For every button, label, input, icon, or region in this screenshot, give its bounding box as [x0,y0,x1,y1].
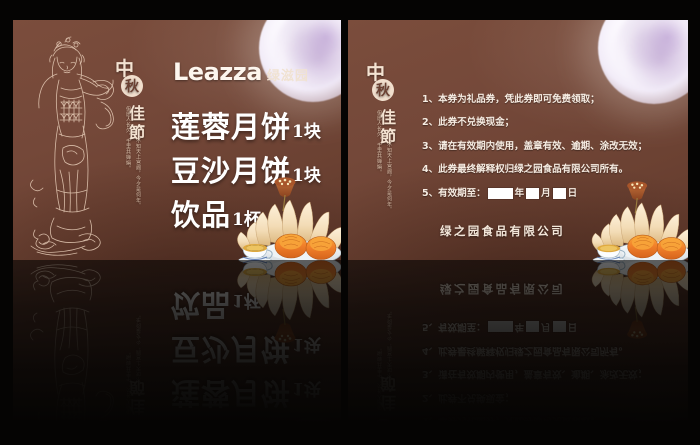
product-list: 莲蓉月饼 1块 豆沙月饼 1块 饮品 1杯 [171,104,321,236]
product-list: 莲蓉月饼 1块 豆沙月饼 1块 饮品 1杯 [171,284,321,416]
terms-item-number: 3、 [422,368,438,379]
product-name: 豆沙月饼 [171,148,291,190]
voucher-stage: 中 秋 佳 節 但愿人长久，千里共婵娟。 不知天上宫阙，今夕是何年。 Leazz… [0,0,700,445]
terms-item: 3、 请在有效期内使用，盖章有效、逾期、涂改无效； [422,141,674,152]
expiry-year-field[interactable] [488,188,513,199]
terms-item-number: 1、 [422,415,438,426]
festival-seal-qiu: 秋 [372,419,394,441]
company-name: 绿之园食品有限公司 [440,281,565,297]
festival-seal-qiu: 秋 [121,423,143,445]
expiry-label: 有效期至： [438,188,486,199]
festival-seal-qiu: 秋 [121,75,143,97]
expiry-day-field[interactable] [553,188,566,199]
festival-poem-line-2: 不知天上宫阙，今夕是何年。 [368,142,392,220]
product-qty: 1杯 [232,290,261,315]
festival-poem-line-2: 不知天上宫阙，今夕是何年。 [368,300,392,378]
terms-item-text: 此券不兑换现金； [438,117,514,128]
terms-item-text: 本券为礼品券，凭此券即可免费领取； [438,415,600,426]
terms-item-number: 4、 [422,164,438,175]
expiry-month-field[interactable] [526,321,539,332]
expiry-year-unit: 年 [515,188,525,199]
voucher-reflection: 中 秋 佳 節 但愿人长久，千里共婵娟。 不知天上宫阙，今夕是何年。 Leazz… [0,260,700,445]
expiry-year-unit: 年 [515,321,525,332]
product-item: 豆沙月饼 1块 [171,148,321,190]
expiry-number: 5、 [422,321,438,332]
product-name: 饮品 [171,286,231,328]
product-name: 饮品 [171,192,231,234]
reflection-mirror: 中 秋 佳 節 但愿人长久，千里共婵娟。 不知天上宫阙，今夕是何年。 Leazz… [0,260,700,445]
terms-item-number: 1、 [422,94,438,105]
voucher-card-back[interactable]: 中 秋 佳 節 但愿人长久，千里共婵娟。 不知天上宫阙，今夕是何年。 1、 本券… [348,260,688,445]
terms-list: 1、 本券为礼品券，凭此券即可免费领取； 2、 此券不兑换现金； 3、 请在有效… [422,94,674,211]
expiry-row: 5、 有效期至： 年 月 日 [422,188,674,199]
product-name: 豆沙月饼 [171,330,291,372]
expiry-day-unit: 日 [568,321,578,332]
terms-item: 2、 此券不兑换现金； [422,117,674,128]
change-goddess-illustration [23,264,119,445]
voucher-card-front[interactable]: 中 秋 佳 節 但愿人长久，千里共婵娟。 不知天上宫阙，今夕是何年。 Leazz… [13,20,341,260]
terms-item-number: 2、 [422,117,438,128]
expiry-day-field[interactable] [553,321,566,332]
terms-item: 1、 本券为礼品券，凭此券即可免费领取； [422,94,674,105]
voucher-card-front[interactable]: 中 秋 佳 節 但愿人长久，千里共婵娟。 不知天上宫阙，今夕是何年。 Leazz… [13,260,341,445]
terms-item-number: 2、 [422,391,438,402]
product-qty: 1块 [292,161,321,186]
product-item: 饮品 1杯 [171,192,321,234]
terms-item: 4、 此券最终解释权归绿之园食品有限公司所有。 [422,164,674,175]
festival-seal-qiu: 秋 [372,79,394,101]
product-item: 莲蓉月饼 1块 [171,104,321,146]
brand-logo: Leazza 绿滋园 [173,434,309,445]
product-item: 莲蓉月饼 1块 [171,374,321,416]
voucher-card-back[interactable]: 中 秋 佳 節 但愿人长久，千里共婵娟。 不知天上宫阙，今夕是何年。 1、 本券… [348,20,688,260]
terms-item-text: 请在有效期内使用，盖章有效、逾期、涂改无效； [438,141,647,152]
brand-chinese-name: 绿滋园 [267,65,309,86]
product-qty: 1杯 [232,205,261,230]
expiry-label: 有效期至： [438,321,486,332]
terms-item: 4、 此券最终解释权归绿之园食品有限公司所有。 [422,344,674,355]
product-name: 莲蓉月饼 [171,104,291,146]
expiry-month-unit: 月 [541,321,551,332]
terms-item: 1、 本券为礼品券，凭此券即可免费领取； [422,415,674,426]
company-name: 绿之园食品有限公司 [440,223,565,239]
moon-icon [598,20,688,104]
change-goddess-illustration [23,30,119,256]
product-qty: 1块 [292,334,321,359]
expiry-month-field[interactable] [526,188,539,199]
expiry-year-field[interactable] [488,321,513,332]
brand-logo: Leazza 绿滋园 [173,58,309,86]
expiry-month-unit: 月 [541,188,551,199]
terms-item: 3、 请在有效期内使用，盖章有效、逾期、涂改无效； [422,368,674,379]
terms-item-text: 此券最终解释权归绿之园食品有限公司所有。 [438,164,628,175]
festival-poem-line-2: 不知天上宫阙，今夕是何年。 [117,304,141,382]
expiry-number: 5、 [422,188,438,199]
terms-item-text: 此券不兑换现金； [438,391,514,402]
product-qty: 1块 [292,117,321,142]
brand-latin-name: Leazza [173,434,262,445]
expiry-day-unit: 日 [568,188,578,199]
terms-item-text: 本券为礼品券，凭此券即可免费领取； [438,94,600,105]
product-item: 饮品 1杯 [171,286,321,328]
terms-item-number: 3、 [422,141,438,152]
terms-item: 2、 此券不兑换现金； [422,391,674,402]
product-item: 豆沙月饼 1块 [171,330,321,372]
expiry-row: 5、 有效期至： 年 月 日 [422,321,674,332]
product-qty: 1块 [292,378,321,403]
terms-list: 1、 本券为礼品券，凭此券即可免费领取； 2、 此券不兑换现金； 3、 请在有效… [422,309,674,426]
terms-item-number: 4、 [422,344,438,355]
brand-latin-name: Leazza [173,58,262,86]
festival-poem-line-2: 不知天上宫阙，今夕是何年。 [117,138,141,216]
product-name: 莲蓉月饼 [171,374,291,416]
terms-item-text: 请在有效期内使用，盖章有效、逾期、涂改无效； [438,368,647,379]
terms-item-text: 此券最终解释权归绿之园食品有限公司所有。 [438,344,628,355]
brand-chinese-name: 绿滋园 [267,434,309,445]
